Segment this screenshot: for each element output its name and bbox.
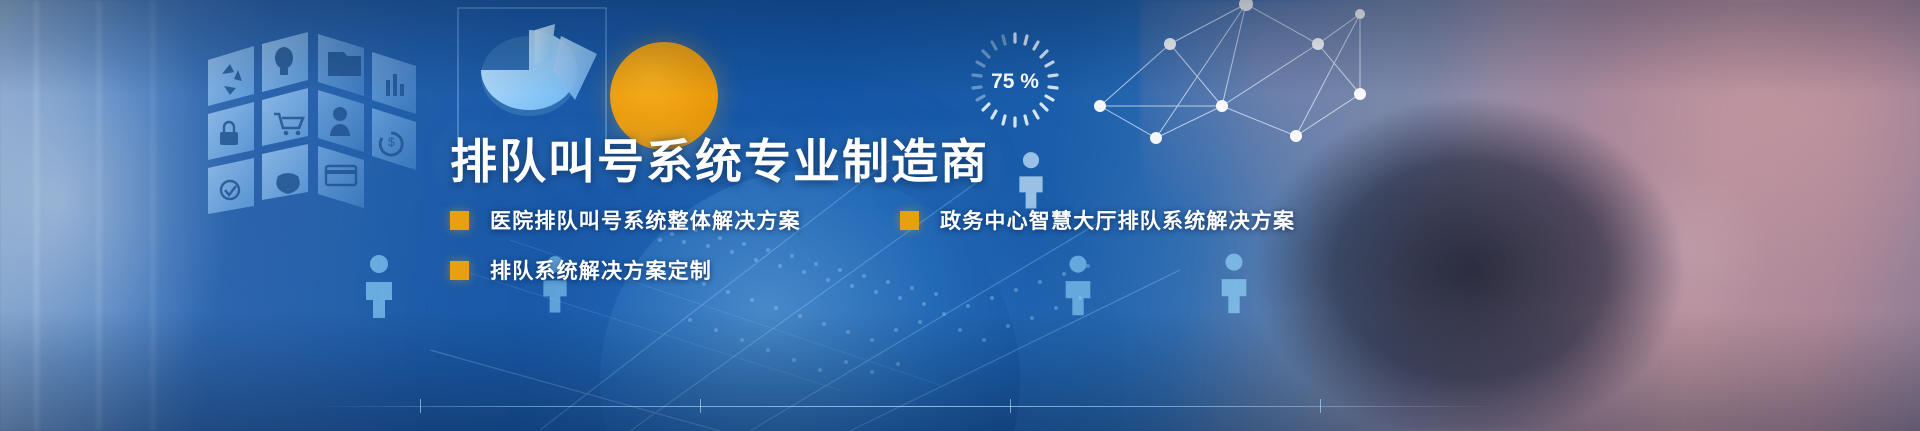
feature-label: 政务中心智慧大厅排队系统解决方案 [940, 205, 1295, 235]
feature-label: 排队系统解决方案定制 [490, 255, 712, 285]
feature-item: 政务中心智慧大厅排队系统解决方案 [900, 205, 1295, 235]
feature-item: 医院排队叫号系统整体解决方案 [450, 205, 801, 235]
promotional-banner: $ [0, 0, 1920, 431]
banner-headline: 排队叫号系统专业制造商 [450, 138, 989, 185]
feature-label: 医院排队叫号系统整体解决方案 [490, 205, 801, 235]
orange-square-bullet-icon [450, 211, 469, 230]
orange-square-bullet-icon [900, 211, 919, 230]
banner-content: 排队叫号系统专业制造商 医院排队叫号系统整体解决方案 排队系统解决方案定制 政务… [0, 0, 1920, 431]
feature-item: 排队系统解决方案定制 [450, 255, 712, 285]
feature-list-right: 政务中心智慧大厅排队系统解决方案 [900, 205, 1295, 235]
orange-square-bullet-icon [450, 261, 469, 280]
